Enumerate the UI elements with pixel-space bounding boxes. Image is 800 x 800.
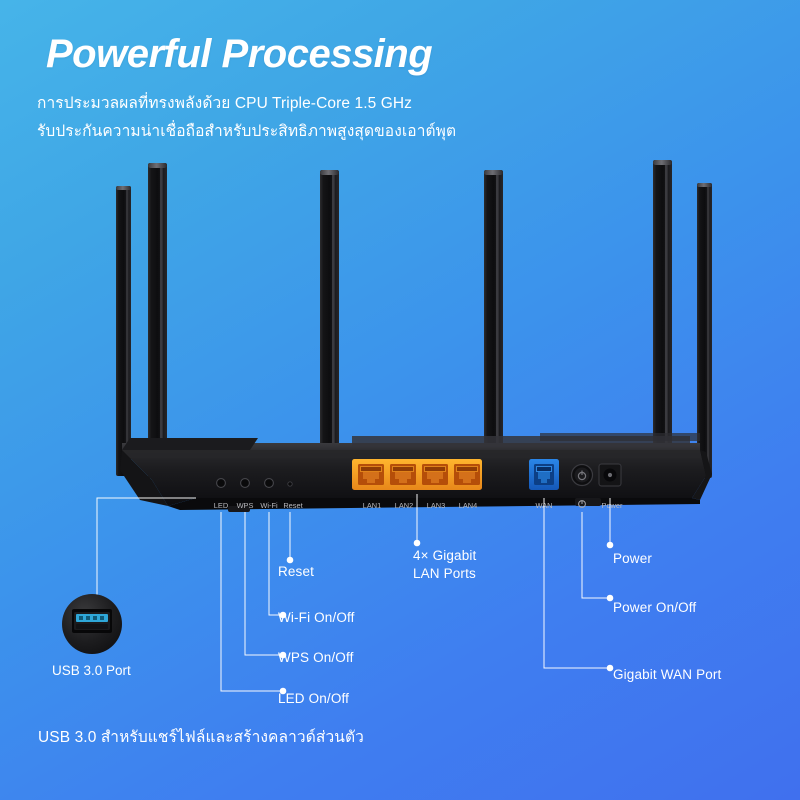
lan-port-1 (358, 464, 384, 485)
lan-label-1: LAN1 (363, 501, 382, 510)
lan-label-2: LAN2 (395, 501, 414, 510)
antenna-1 (116, 186, 131, 476)
callout-label-gigabit-lan-ports: 4× Gigabit LAN Ports (413, 547, 476, 583)
power-jack (599, 464, 621, 486)
silkscreen-led: LED (214, 501, 228, 510)
lan-port-2 (390, 464, 416, 485)
callout-label-reset: Reset (278, 563, 314, 580)
callout-label-led-on-off: LED On/Off (278, 690, 349, 707)
promo-banner: Powerful Processing การประมวลผลที่ทรงพลั… (0, 0, 800, 800)
callout-line-led (221, 512, 283, 691)
power-icon (578, 471, 585, 480)
lan-labels: LAN1 LAN2 LAN3 LAN4 (363, 501, 478, 510)
antenna-group (116, 160, 712, 480)
usb-port-icon (62, 594, 122, 654)
power-jack-label: Power (602, 501, 623, 510)
lan-label-4: LAN4 (459, 501, 478, 510)
callout-label-wps-on-off: WPS On/Off (278, 649, 354, 666)
antenna-4 (484, 170, 503, 480)
subtitle-line-1: การประมวลผลที่ทรงพลังด้วย CPU Triple-Cor… (37, 90, 412, 115)
callout-label-power: Power (613, 550, 652, 567)
silkscreen-labels: LED WPS Wi-Fi Reset (214, 501, 303, 510)
callout-line-wps (245, 512, 283, 655)
callout-line-usb (97, 498, 196, 595)
subtitle-line-2: รับประกันความน่าเชื่อถือสำหรับประสิทธิภา… (37, 118, 456, 143)
wan-port (529, 459, 559, 490)
lan-ports-block (352, 459, 482, 490)
antenna-5 (653, 160, 672, 478)
usb-port-label: USB 3.0 Port (52, 663, 131, 678)
lan-port-3 (422, 464, 448, 485)
power-icon-silkscreen (579, 501, 586, 508)
callout-lan-line-2: LAN Ports (413, 565, 476, 583)
callout-label-power-on-off: Power On/Off (613, 599, 696, 616)
power-button[interactable] (572, 465, 593, 486)
callout-line-wan (544, 498, 610, 668)
silkscreen-reset: Reset (283, 501, 302, 510)
router-top-plate (122, 433, 700, 455)
callout-line-power-onoff (582, 512, 610, 598)
button-holes (217, 479, 293, 488)
callout-dot-lan (414, 540, 421, 547)
silkscreen-wifi: Wi-Fi (260, 501, 278, 510)
callout-lan-line-1: 4× Gigabit (413, 547, 476, 565)
antenna-6 (697, 183, 712, 478)
callout-label-wifi-on-off: Wi-Fi On/Off (278, 609, 355, 626)
usb-caption: USB 3.0 สำหรับแชร์ไฟล์และสร้างคลาวด์ส่วน… (38, 724, 364, 749)
silkscreen-wps: WPS (237, 501, 254, 510)
callout-label-gigabit-wan-port: Gigabit WAN Port (613, 666, 721, 683)
wan-label: WAN (536, 501, 553, 510)
page-title: Powerful Processing (46, 32, 432, 77)
callout-dot-power (607, 542, 614, 549)
antenna-3 (320, 170, 339, 480)
antenna-2 (148, 163, 167, 478)
router-body (120, 450, 712, 512)
lan-label-3: LAN3 (427, 501, 446, 510)
lan-port-4 (454, 464, 480, 485)
